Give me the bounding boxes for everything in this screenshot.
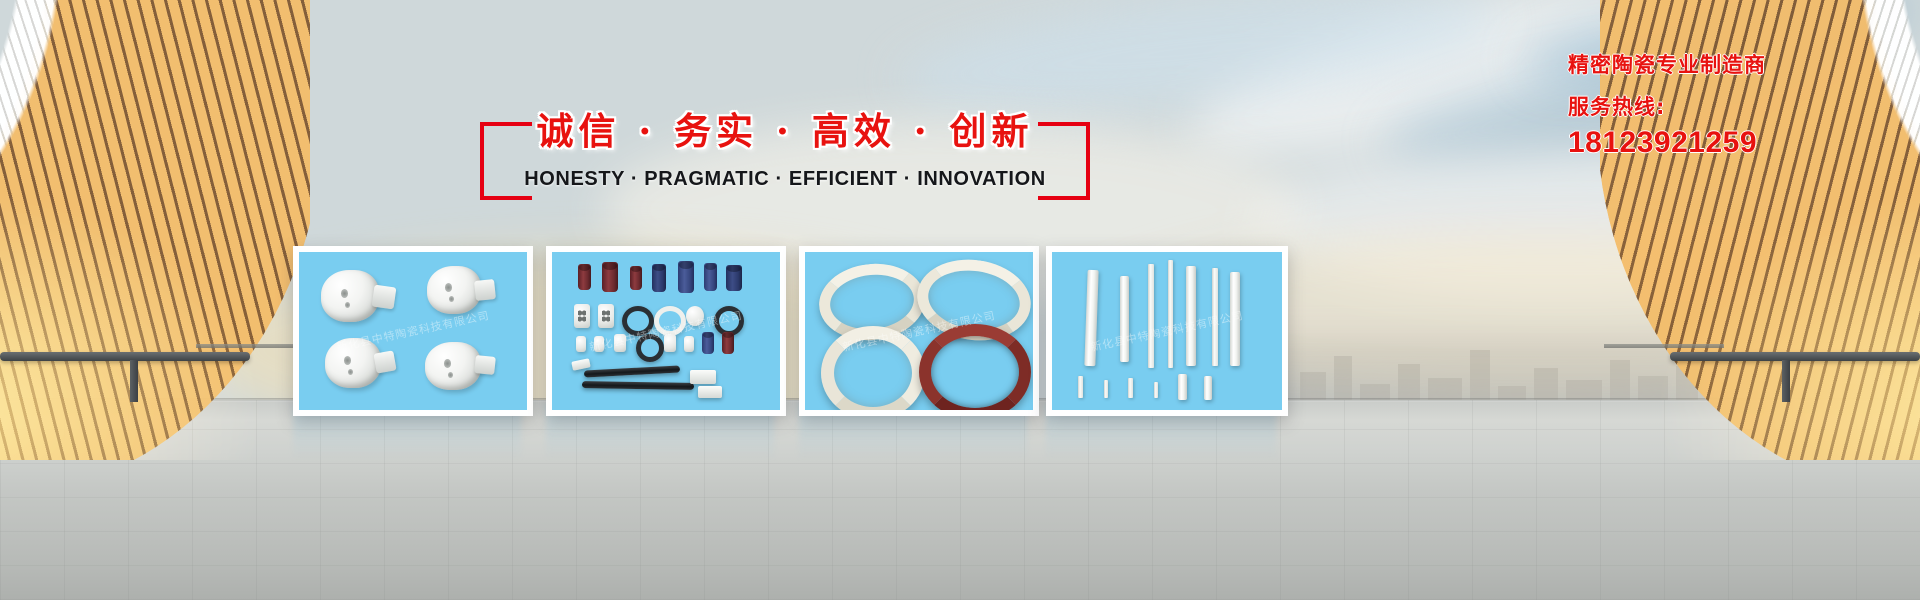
- handrail-far-right: [1604, 344, 1724, 348]
- ceramic-tube: [602, 262, 618, 292]
- ceramic-chip: [574, 304, 590, 328]
- ceramic-tube: [652, 264, 666, 292]
- product-panel-2-photo: 新化县中特陶瓷科技有限公司: [552, 252, 780, 410]
- promo-tagline: 精密陶瓷专业制造商: [1568, 52, 1908, 78]
- ceramic-tube: [702, 332, 714, 354]
- ceramic-rod: [1084, 270, 1098, 366]
- cable-connector: [690, 370, 716, 384]
- ceramic-tube: [578, 264, 591, 290]
- product-panel-3-photo: 新化县中特陶瓷科技有限公司: [805, 252, 1033, 410]
- ceramic-ring: [821, 326, 925, 410]
- ceramic-part: [594, 336, 604, 352]
- bracket-bottom-left-icon: [480, 196, 532, 200]
- product-panel-1-photo: 新化县中特陶瓷科技有限公司: [299, 252, 527, 410]
- ceramic-tube: [630, 266, 642, 290]
- handrail-post-right: [1782, 360, 1790, 402]
- ceramic-rod: [1186, 266, 1196, 366]
- promo-block: 精密陶瓷专业制造商 服务热线: 18123921259: [1568, 52, 1908, 160]
- holder-neck: [474, 355, 496, 375]
- o-ring: [654, 306, 686, 336]
- ceramic-rod: [1230, 272, 1240, 366]
- handrail-post-left: [130, 360, 138, 402]
- cable-connector: [698, 386, 722, 398]
- ceramic-tube: [704, 263, 717, 291]
- holder-neck: [474, 279, 496, 301]
- ceramic-part: [664, 334, 676, 352]
- panel-watermark: 新化县中特陶瓷科技有限公司: [1089, 307, 1245, 355]
- ceramic-part: [684, 336, 694, 352]
- product-panel-4[interactable]: 新化县中特陶瓷科技有限公司: [1046, 246, 1288, 416]
- ceramic-lamp-holder: [325, 338, 381, 388]
- sunset-glow-right: [1630, 170, 1920, 460]
- ceramic-lamp-holder: [425, 342, 481, 390]
- holder-neck: [372, 285, 397, 310]
- hero-banner: 诚信 · 务实 · 高效 · 创新 HONESTY · PRAGMATIC · …: [0, 0, 1920, 600]
- handrail-left: [0, 352, 250, 361]
- ceramic-tube: [678, 261, 694, 293]
- ceramic-rod: [1148, 264, 1154, 368]
- ceramic-rod-small: [1178, 374, 1187, 400]
- ceramic-ring-maroon: [919, 324, 1031, 410]
- product-panel-1[interactable]: 新化县中特陶瓷科技有限公司: [293, 246, 533, 416]
- cable: [582, 381, 694, 390]
- ceramic-rod-small: [1078, 376, 1083, 398]
- ceramic-rod-small: [1154, 382, 1158, 398]
- handrail-right: [1670, 352, 1920, 361]
- ceramic-rod: [1168, 260, 1173, 368]
- ceramic-lamp-holder: [321, 270, 379, 322]
- slogan-block: 诚信 · 务实 · 高效 · 创新 HONESTY · PRAGMATIC · …: [480, 108, 1090, 203]
- ceramic-tube: [726, 265, 742, 291]
- holder-neck: [373, 350, 396, 373]
- product-panel-3[interactable]: 新化县中特陶瓷科技有限公司: [799, 246, 1039, 416]
- cable: [584, 365, 680, 377]
- ceramic-disc: [686, 306, 704, 326]
- product-panel-4-photo: 新化县中特陶瓷科技有限公司: [1052, 252, 1282, 410]
- ceramic-part: [614, 334, 626, 352]
- ceramic-rod: [1120, 276, 1129, 362]
- sunset-glow-left: [0, 170, 290, 460]
- ceramic-part: [576, 336, 586, 352]
- o-ring: [636, 334, 664, 362]
- o-ring: [622, 306, 654, 336]
- left-canopy-structure: [0, 0, 310, 460]
- ceramic-rod: [1212, 268, 1218, 366]
- ceramic-rod-small: [1204, 376, 1212, 400]
- ceramic-chip: [598, 304, 614, 328]
- ceramic-rod-small: [1128, 378, 1133, 398]
- cable-connector: [571, 358, 590, 371]
- slogan-chinese: 诚信 · 务实 · 高效 · 创新: [480, 108, 1090, 154]
- slogan-english: HONESTY · PRAGMATIC · EFFICIENT · INNOVA…: [480, 168, 1090, 191]
- ceramic-rod-small: [1104, 380, 1108, 398]
- ceramic-tube: [722, 332, 734, 354]
- product-panel-2[interactable]: 新化县中特陶瓷科技有限公司: [546, 246, 786, 416]
- bracket-bottom-right-icon: [1038, 196, 1090, 200]
- promo-phone-number[interactable]: 18123921259: [1568, 126, 1908, 160]
- promo-hotline-label: 服务热线:: [1568, 94, 1908, 120]
- ceramic-lamp-holder: [427, 266, 481, 314]
